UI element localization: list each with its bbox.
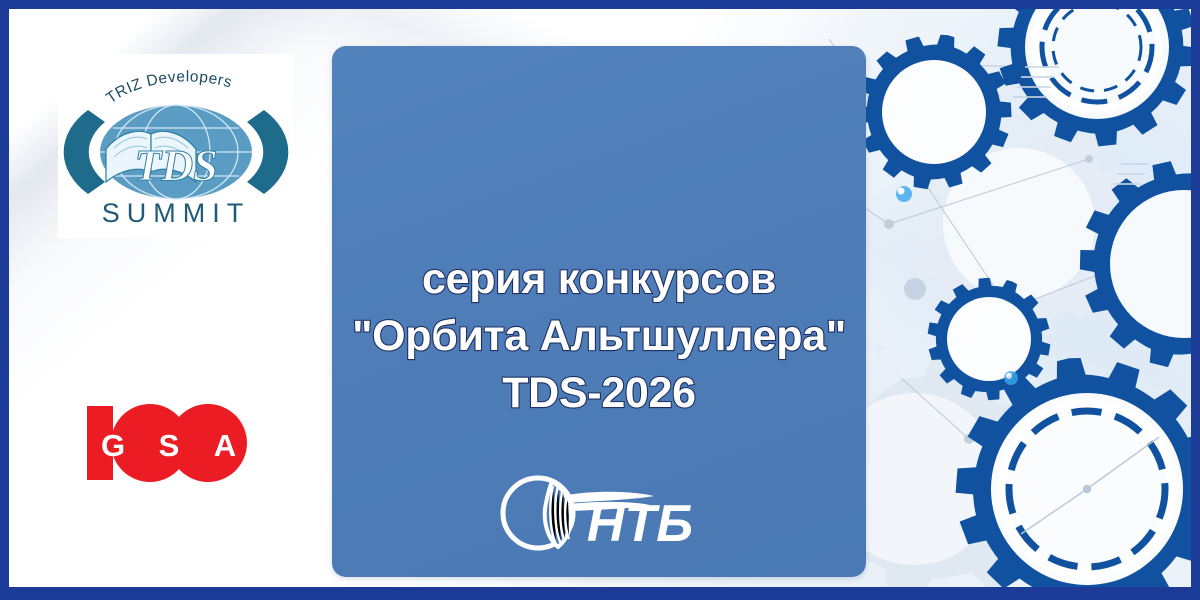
title-line-1: серия конкурсов xyxy=(332,251,866,308)
svg-text:SUMMIT: SUMMIT xyxy=(102,198,250,228)
svg-text:A: A xyxy=(214,428,236,463)
gsa-100-logo: G S A xyxy=(77,398,257,488)
tds-summit-logo: TDS TRIZ Developers SUMMIT xyxy=(58,54,294,238)
title-line-2: "Орбита Альтшуллера" xyxy=(332,308,866,365)
page-title: серия конкурсов "Орбита Альтшуллера" TDS… xyxy=(332,251,866,422)
svg-text:TDS: TDS xyxy=(134,141,217,190)
svg-text:G: G xyxy=(101,428,125,463)
poster-canvas: TDS TRIZ Developers SUMMIT G S A серия к… xyxy=(0,0,1200,600)
ntb-logo: НТБ xyxy=(492,469,706,553)
title-line-3: TDS-2026 xyxy=(332,365,866,422)
ntb-logo-text: НТБ xyxy=(587,495,693,553)
main-title-card: серия конкурсов "Орбита Альтшуллера" TDS… xyxy=(332,46,866,577)
svg-text:S: S xyxy=(159,428,180,463)
